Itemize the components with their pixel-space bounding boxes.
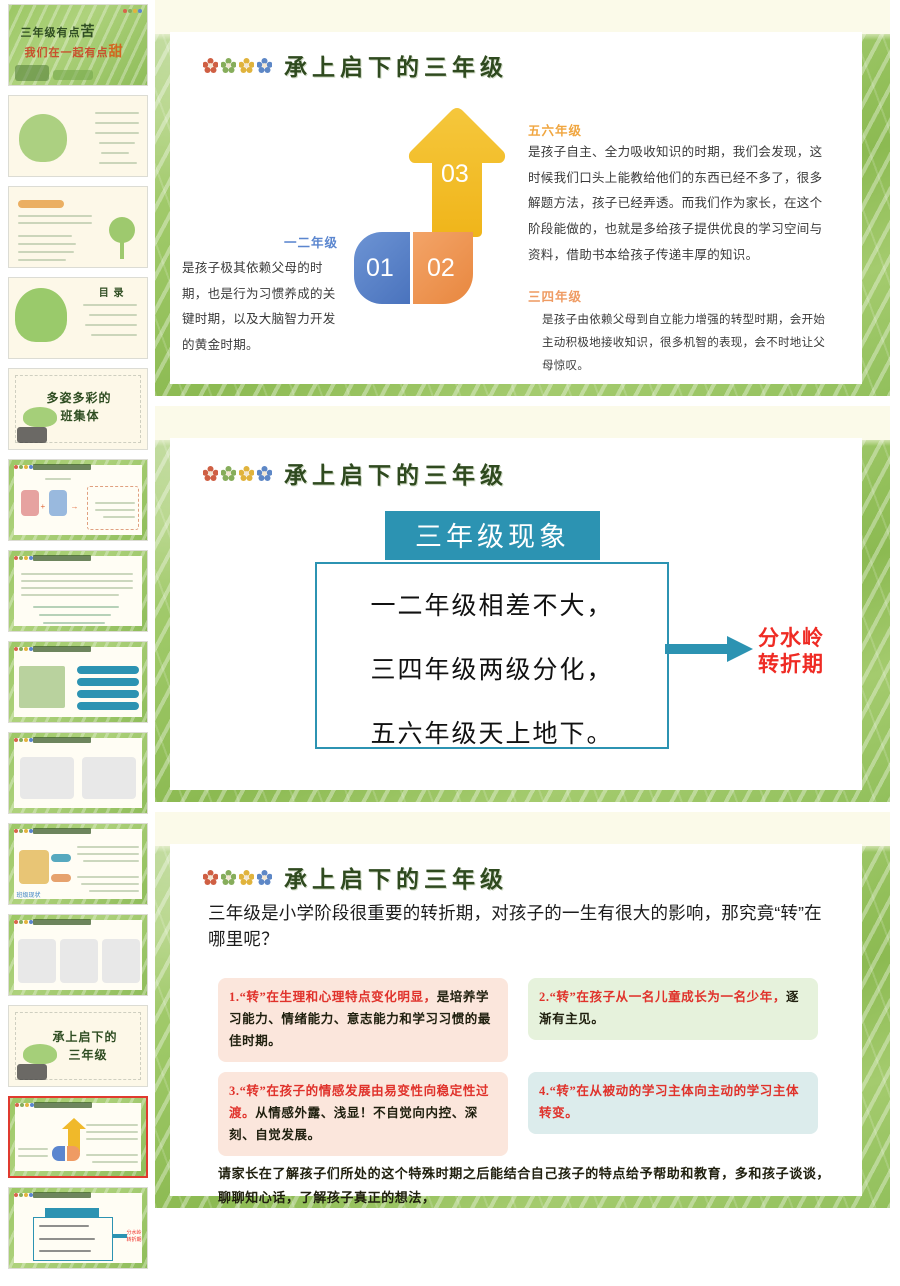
slide-grade-stages[interactable]: 承上启下的三年级 03 01 02 一二年级 是孩子极其依赖父母的时期，也是行为 [155,0,890,396]
turning-point-box-1: 1.“转”在生理和心理特点变化明显，是培养学习能力、情绪能力、意志能力和学习习惯… [218,978,508,1062]
phenomenon-line-1: 一二年级相差不大， [317,586,667,622]
flower-icon-green [221,58,236,73]
flower-icon-blue [257,466,272,481]
label-grade-3-4: 三四年级 [528,286,582,305]
slide1-title: 承上启下的三年级 [284,48,508,82]
slide-top-band [155,812,890,846]
box4-red-text: 4.“转”在从被动的学习主体向主动的学习主体转变。 [539,1084,799,1120]
text-grade-1-2: 是孩子极其依赖父母的时期，也是行为习惯养成的关键时期，以及大脑智力开发的黄金时期… [182,256,342,359]
slide-thumbnail-9[interactable] [8,732,148,814]
box1-red-text: 1.“转”在生理和心理特点变化明显， [229,990,437,1004]
turning-point-box-2: 2.“转”在孩子从一名儿童成长为一名少年，逐渐有主见。 [528,978,818,1040]
label-grade-1-2: 一二年级 [188,232,338,251]
slide-turning-point[interactable]: 承上启下的三年级 三年级是小学阶段很重要的转折期，对孩子的一生有很大的影响，那究… [155,812,890,1208]
slide-thumbnail-1[interactable]: 三年级有点苦 我们在一起有点甜 [8,4,148,86]
flower-decoration-icons [203,466,272,481]
flower-decoration-icons [203,870,272,885]
slide-thumbnail-6[interactable]: + → [8,459,148,541]
slide-thumbnail-3[interactable] [8,186,148,268]
phenomenon-box: 一二年级相差不大， 三四年级两级分化， 五六年级天上地下。 [315,562,669,749]
slide-thumbnail-8[interactable] [8,641,148,723]
flower-icon-yellow [239,870,254,885]
text-grade-3-4: 是孩子由依赖父母到自立能力增强的转型时期，会开始主动积极地接收知识，很多机智的表… [542,309,828,378]
flower-icon-green [221,870,236,885]
flower-icon-green [221,466,236,481]
text-grade-5-6: 是孩子自主、全力吸收知识的时期，我们会发现，这时候我们口头上能教给他们的东西已经… [528,140,828,268]
phenomenon-line-3: 五六年级天上地下。 [317,714,667,750]
callout-line-2: 转折期 [758,652,824,678]
slide-thumbnail-4[interactable]: 目 录 [8,277,148,359]
slide-thumbnail-14[interactable]: 分水岭转折期 [8,1187,148,1269]
phenomenon-line-2: 三四年级两级分化， [317,650,667,686]
slide-top-band [155,0,890,34]
flower-icon-blue [257,870,272,885]
turning-point-intro: 三年级是小学阶段很重要的转折期，对孩子的一生有很大的影响，那究竟“转”在哪里呢？ [208,900,834,953]
flower-icon-red [203,58,218,73]
arrow-right-icon [665,634,755,664]
slide2-title: 承上启下的三年级 [284,456,508,490]
slide-thumbnail-5[interactable]: 多姿多彩的 班集体 [8,368,148,450]
flower-icon-red [203,870,218,885]
slide3-header: 承上启下的三年级 [203,860,508,894]
turning-point-box-4: 4.“转”在从被动的学习主体向主动的学习主体转变。 [528,1072,818,1134]
slide3-card: 承上启下的三年级 三年级是小学阶段很重要的转折期，对孩子的一生有很大的影响，那究… [170,844,862,1196]
slide1-header: 承上启下的三年级 [203,48,508,82]
slide-thumbnail-10[interactable]: 班级现状 [8,823,148,905]
slide-thumbnail-7[interactable] [8,550,148,632]
slide-thumbnail-panel[interactable]: 三年级有点苦 我们在一起有点甜 [0,0,155,1286]
slide-thumbnail-11[interactable] [8,914,148,996]
slide-grade-phenomenon[interactable]: 承上启下的三年级 三年级现象 一二年级相差不大， 三四年级两级分化， 五六年级天… [155,406,890,802]
flower-decoration-icons [203,58,272,73]
slide1-card: 承上启下的三年级 03 01 02 一二年级 是孩子极其依赖父母的时期，也是行为 [170,32,862,384]
presentation-viewer: 三年级有点苦 我们在一起有点甜 [0,0,900,1286]
phenomenon-banner: 三年级现象 [385,511,600,560]
slide-stack: 承上启下的三年级 03 01 02 一二年级 是孩子极其依赖父母的时期，也是行为 [155,0,900,1286]
step-number-03: 03 [441,160,469,189]
slide-thumbnail-13[interactable] [8,1096,148,1178]
callout-line-1: 分水岭 [758,626,824,652]
slide-thumbnail-2[interactable] [8,95,148,177]
slide3-title: 承上启下的三年级 [284,860,508,894]
step-number-02: 02 [427,254,455,283]
callout-watershed: 分水岭 转折期 [758,626,824,679]
box3-dark-text: 从情感外露、浅显！不自觉向内控、深刻、自觉发展。 [229,1106,478,1142]
flower-icon-yellow [239,466,254,481]
flower-icon-blue [257,58,272,73]
turning-point-box-3: 3.“转”在孩子的情感发展由易变性向稳定性过渡。从情感外露、浅显！不自觉向内控、… [218,1072,508,1156]
slide2-card: 承上启下的三年级 三年级现象 一二年级相差不大， 三四年级两级分化， 五六年级天… [170,438,862,790]
slide2-header: 承上启下的三年级 [203,456,508,490]
flower-icon-red [203,466,218,481]
box2-red-text: 2.“转”在孩子从一名儿童成长为一名少年， [539,990,786,1004]
label-grade-5-6: 五六年级 [528,120,582,139]
slide-thumbnail-12[interactable]: 承上启下的 三年级 [8,1005,148,1087]
flower-icon-yellow [239,58,254,73]
turning-point-footer: 请家长在了解孩子们所处的这个特殊时期之后能结合自己孩子的特点给予帮助和教育，多和… [218,1162,830,1208]
step-number-01: 01 [366,254,394,283]
slide-top-band [155,406,890,440]
